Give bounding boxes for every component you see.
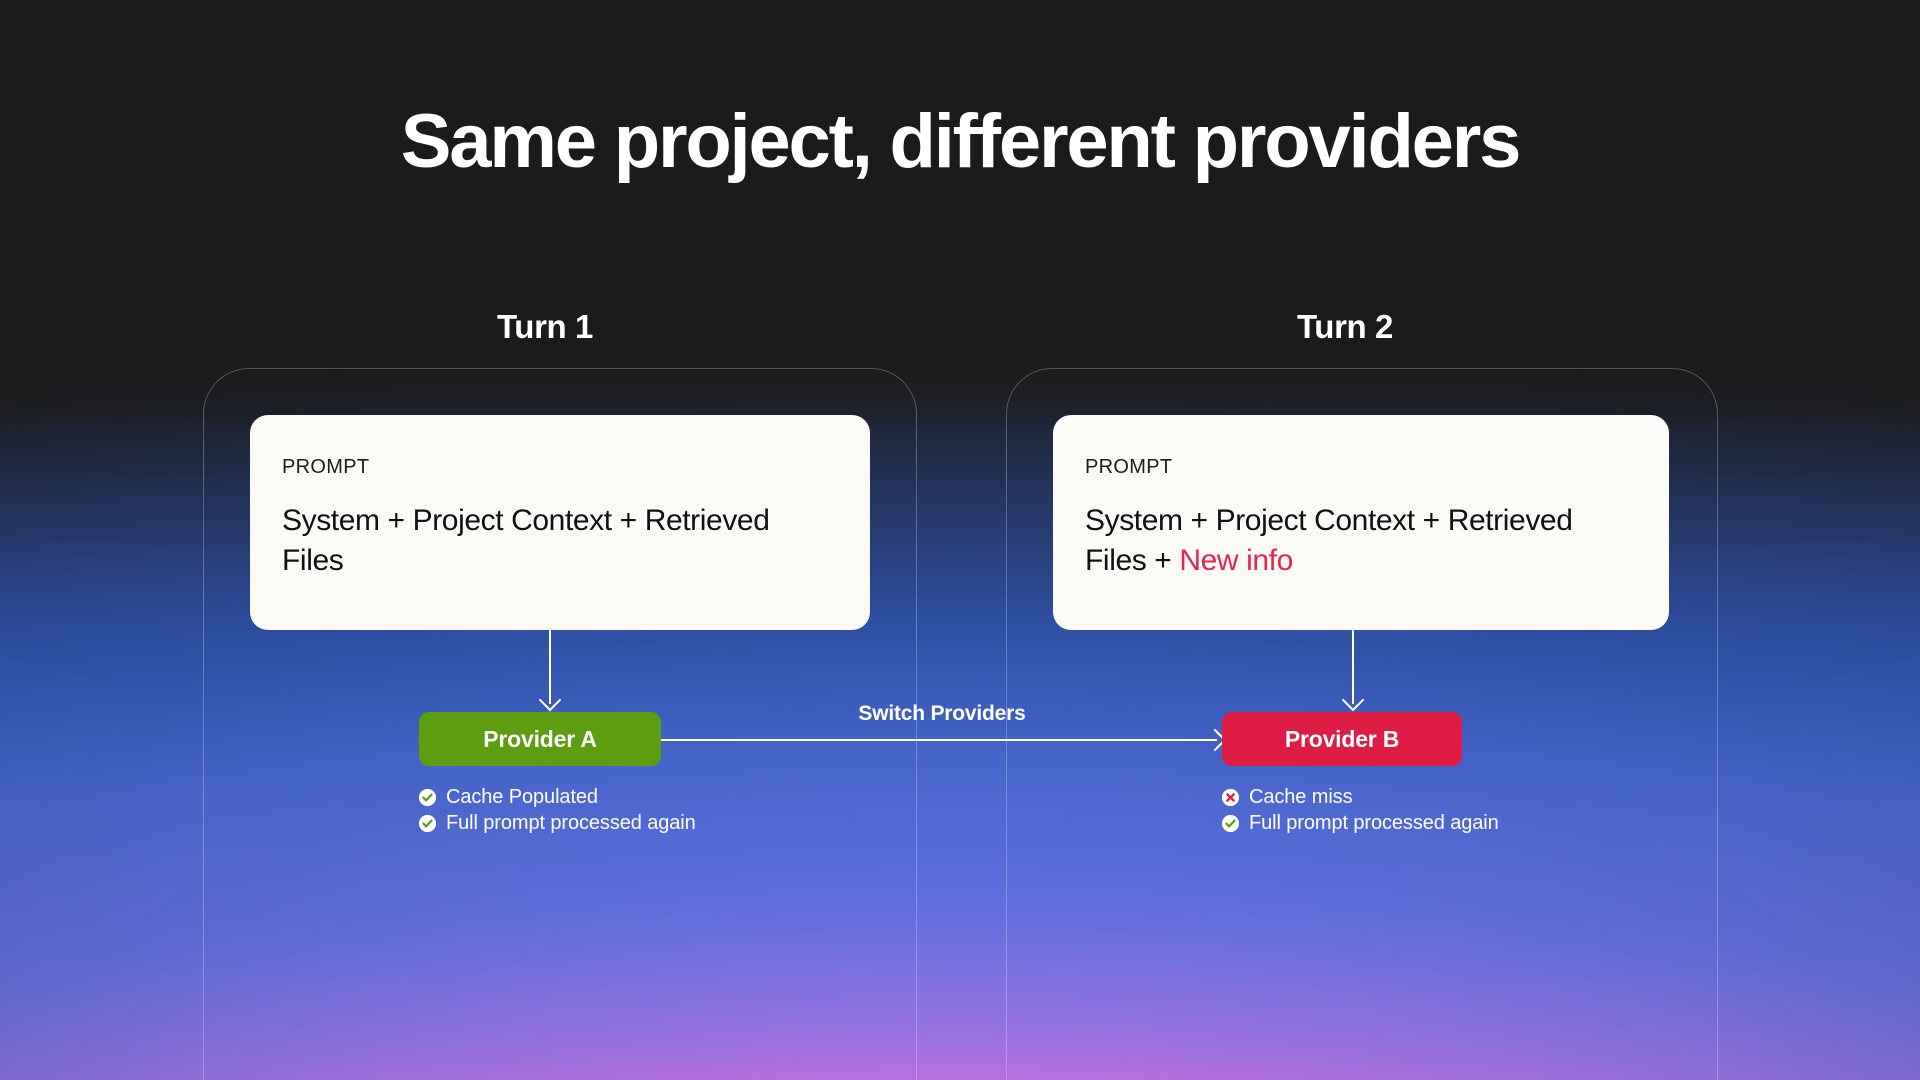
- status-label: Full prompt processed again: [446, 813, 696, 833]
- page-title: Same project, different providers: [0, 104, 1920, 180]
- arrow-head: [1342, 689, 1365, 712]
- prompt-kicker: PROMPT: [282, 457, 838, 477]
- turn-1-label: Turn 1: [497, 310, 593, 343]
- provider-a-badge[interactable]: Provider A: [419, 712, 661, 766]
- prompt-kicker: PROMPT: [1085, 457, 1637, 477]
- prompt-text-plain: System + Project Context + Retrieved Fil…: [1085, 504, 1573, 577]
- check-circle-icon: [419, 789, 436, 806]
- turn-1-status-list: Cache Populated Full prompt processed ag…: [419, 784, 696, 836]
- status-label: Full prompt processed again: [1249, 813, 1499, 833]
- provider-b-label: Provider B: [1285, 726, 1399, 753]
- diagram-canvas: Same project, different providers Turn 1…: [0, 0, 1920, 1080]
- turn-1-prompt-card: PROMPT System + Project Context + Retrie…: [250, 415, 870, 630]
- prompt-text-highlight: New info: [1179, 544, 1293, 577]
- status-item: Cache miss: [1222, 784, 1499, 810]
- prompt-body: System + Project Context + Retrieved Fil…: [1085, 501, 1637, 580]
- status-label: Cache miss: [1249, 787, 1352, 807]
- turn-1-down-arrow-icon: [538, 630, 562, 715]
- x-circle-icon: [1222, 789, 1239, 806]
- prompt-body: System + Project Context + Retrieved Fil…: [282, 501, 838, 580]
- status-label: Cache Populated: [446, 787, 598, 807]
- provider-b-badge[interactable]: Provider B: [1222, 712, 1462, 766]
- turn-2-label: Turn 2: [1297, 310, 1393, 343]
- status-item: Cache Populated: [419, 784, 696, 810]
- check-circle-icon: [419, 815, 436, 832]
- status-item: Full prompt processed again: [1222, 810, 1499, 836]
- turn-2-prompt-card: PROMPT System + Project Context + Retrie…: [1053, 415, 1669, 630]
- check-circle-icon: [1222, 815, 1239, 832]
- arrow-head: [539, 689, 562, 712]
- status-item: Full prompt processed again: [419, 810, 696, 836]
- turn-2-down-arrow-icon: [1341, 630, 1365, 715]
- prompt-text-plain: System + Project Context + Retrieved Fil…: [282, 504, 770, 577]
- turn-2-status-list: Cache miss Full prompt processed again: [1222, 784, 1499, 836]
- provider-a-label: Provider A: [483, 726, 596, 753]
